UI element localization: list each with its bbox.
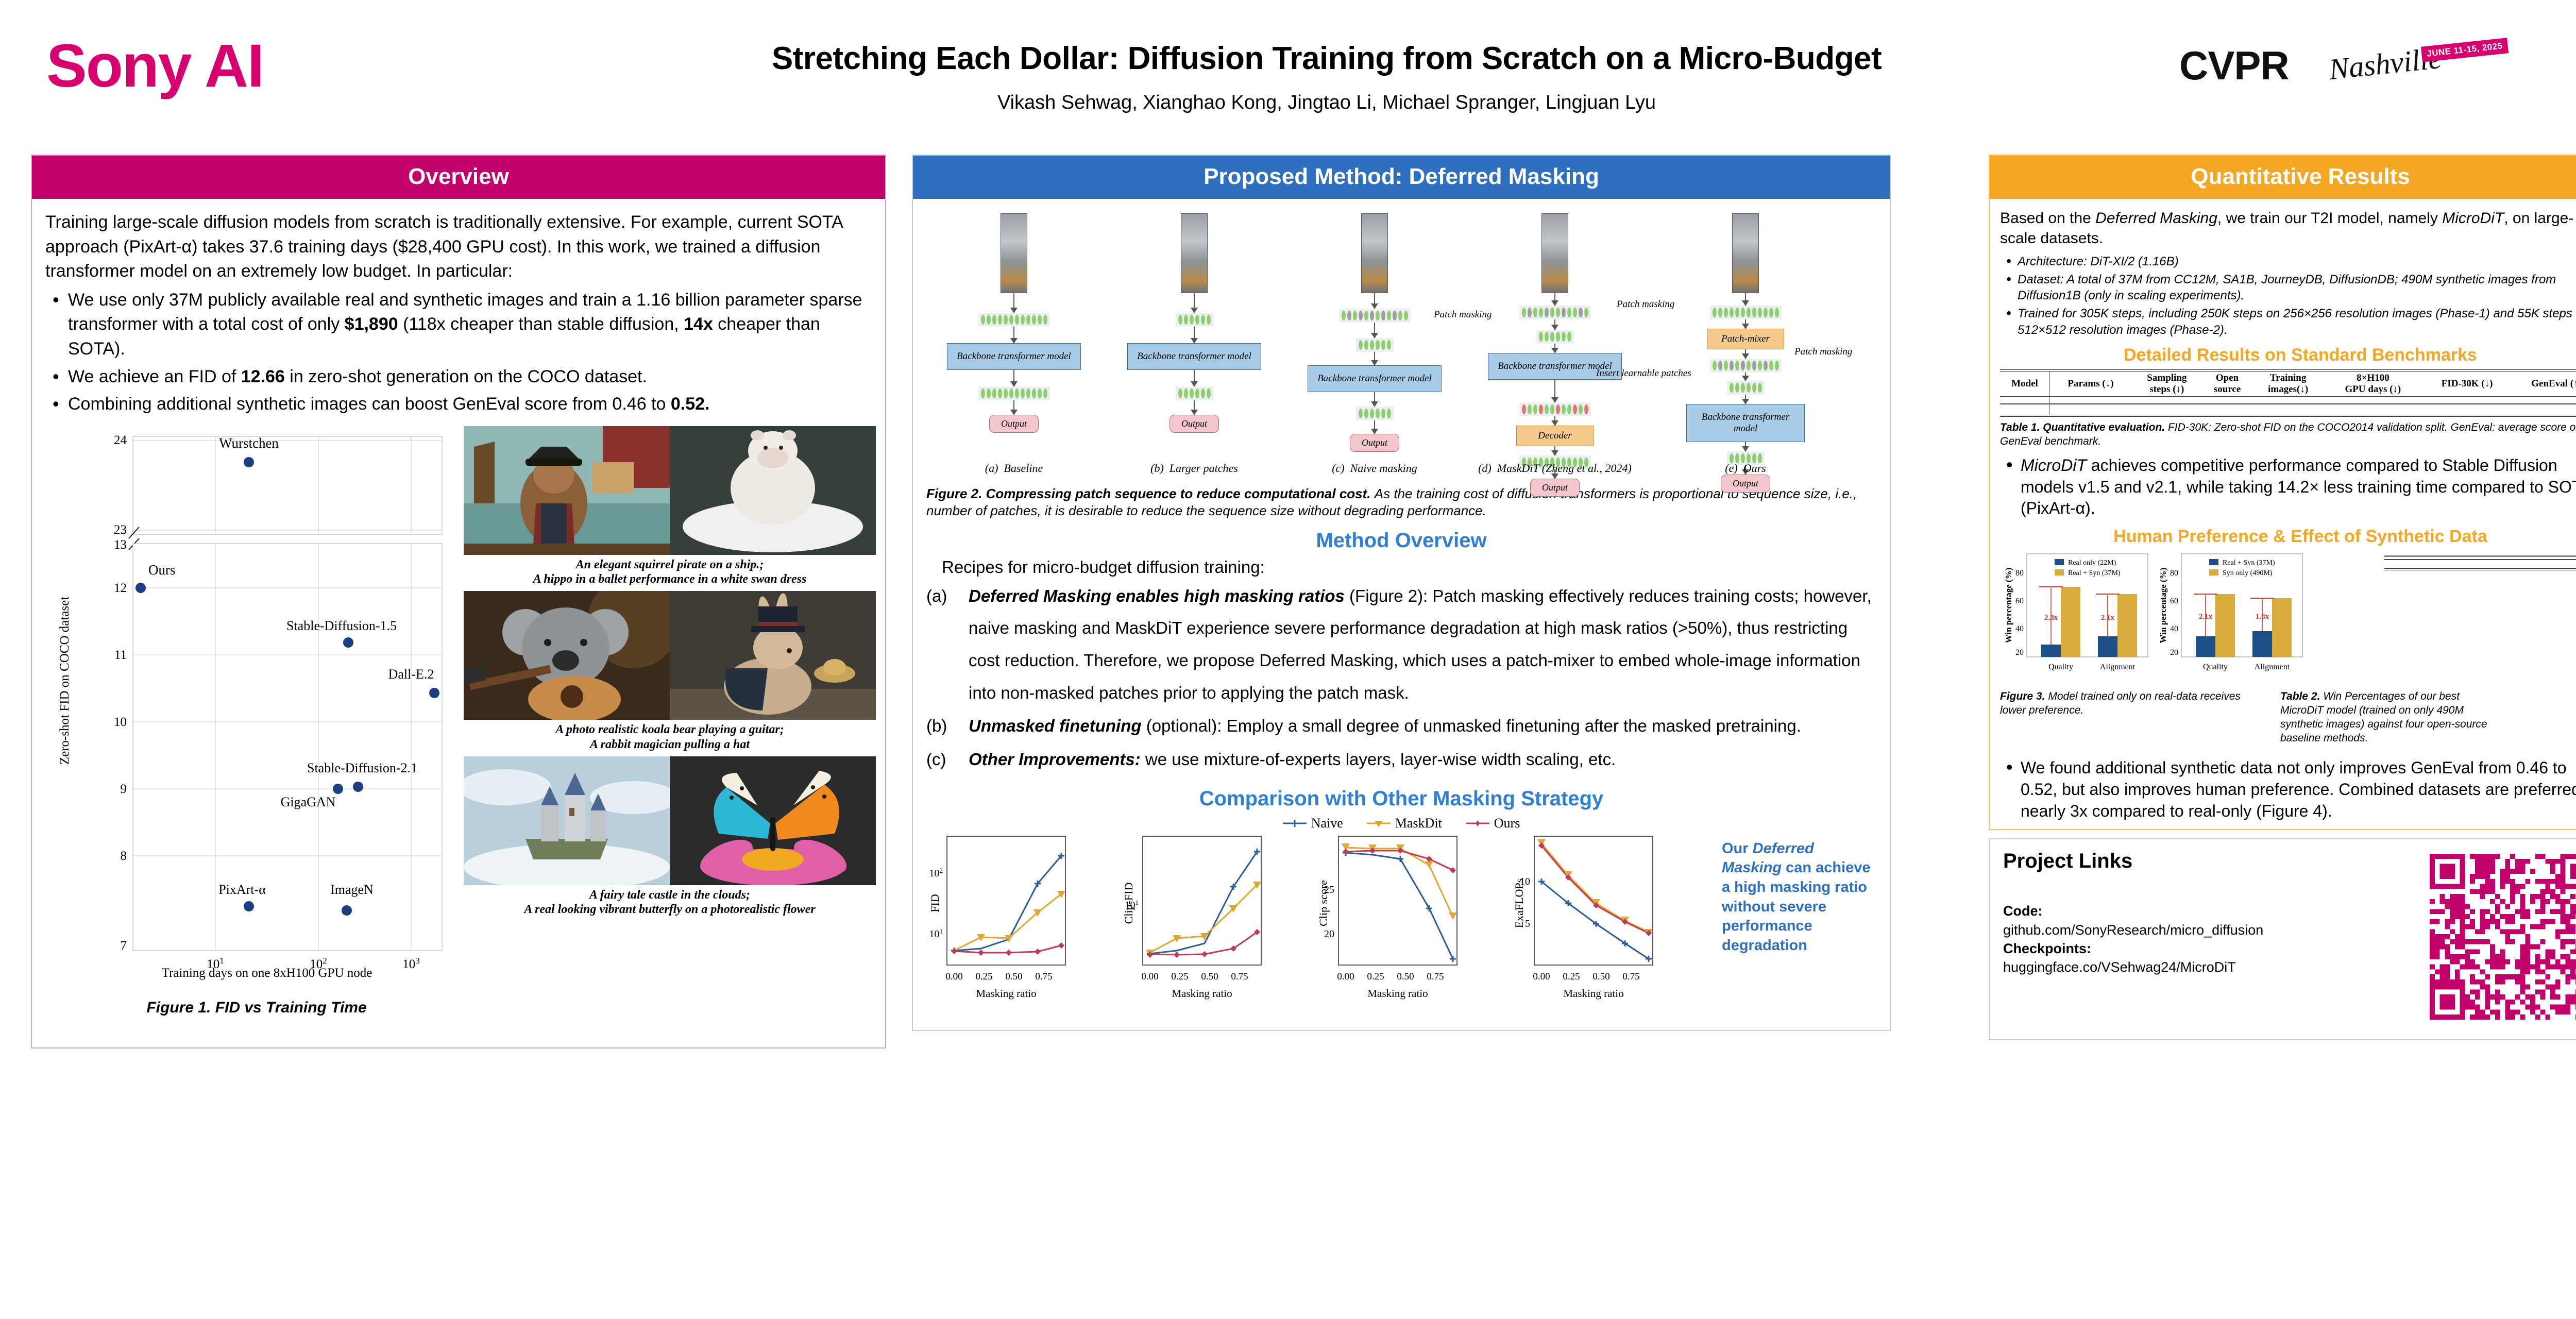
overview-bullet-list: We use only 37M publicly available real … [45, 288, 872, 417]
figure3-bar-charts: Win percentage (%) 80 60 40 20 2.8x [2000, 551, 2361, 680]
token-row [1710, 306, 1782, 319]
cvpr-logo: CVPR Nashville JUNE 11-15, 2025 [2179, 31, 2509, 113]
svg-text:102: 102 [929, 867, 943, 879]
col-fid30k: FID-30K (↓) [2422, 370, 2512, 397]
col-alignment [2549, 556, 2576, 560]
cell-quality [2497, 566, 2549, 569]
cvpr-wordmark: CVPR [2179, 42, 2289, 89]
svg-text:2.8x: 2.8x [2044, 614, 2058, 622]
backbone-box: Backbone transformer model [1308, 365, 1442, 392]
sample-row: An elegant squirrel pirate on a ship.;A … [464, 426, 876, 591]
sample-row: A photo realistic koala bear playing a g… [464, 591, 876, 756]
finding-2: We found additional synthetic data not o… [2000, 757, 2576, 822]
svg-text:PixArt-α: PixArt-α [218, 882, 266, 897]
qr-code-icon[interactable] [2430, 854, 2576, 1020]
col-quality [2497, 556, 2549, 560]
svg-text:0.00: 0.00 [945, 971, 962, 982]
decoder-box: Decoder [1516, 426, 1594, 446]
svg-text:25: 25 [1324, 884, 1334, 895]
svg-text:80: 80 [2015, 569, 2024, 578]
col-model: Model [2000, 370, 2049, 397]
sample-caption: An elegant squirrel pirate on a ship.;A … [464, 555, 876, 591]
output-node: Output [1170, 415, 1219, 433]
cell-steps [2131, 413, 2202, 416]
svg-text:Wurstchen: Wurstchen [219, 435, 279, 451]
svg-text:20: 20 [2170, 648, 2178, 657]
svg-text:Masking ratio: Masking ratio [1172, 987, 1232, 1000]
svg-text:0.75: 0.75 [1035, 971, 1052, 982]
masking-comparison-charts: Naive MaskDit Ours FID [926, 816, 1876, 1022]
legend-item-naive: Naive [1283, 816, 1343, 831]
svg-text:5: 5 [1525, 918, 1530, 929]
page-title: Stretching Each Dollar: Diffusion Traini… [567, 40, 2087, 77]
svg-text:Win percentage (%): Win percentage (%) [2004, 568, 2013, 644]
overview-panel: Overview Training large-scale diffusion … [31, 155, 886, 1049]
sample-caption: A photo realistic koala bear playing a g… [464, 720, 876, 756]
figure1-caption: Figure 1. FID vs Training Time [61, 999, 452, 1017]
svg-text:GigaGAN: GigaGAN [281, 794, 336, 809]
token-row [1727, 381, 1765, 395]
sample-image-grid: An elegant squirrel pirate on a ship.;A … [464, 426, 876, 922]
ours-marker-icon [1466, 819, 1489, 827]
svg-text:Stable-Diffusion-2.1: Stable-Diffusion-2.1 [307, 760, 417, 775]
method-overview-title: Method Overview [926, 529, 1876, 552]
svg-text:101: 101 [929, 927, 943, 940]
svg-text:0.50: 0.50 [1592, 971, 1609, 982]
svg-text:80: 80 [2170, 569, 2178, 578]
col-sampling-steps: Samplingsteps (↓) [2131, 370, 2202, 397]
sample-image-squirrel-pirate [464, 426, 670, 555]
figure2-pipeline-larger-patches: Backbone transformer model Output (b) La… [1107, 213, 1282, 433]
table1-caption-bold: Table 1. Quantitative evaluation. [2000, 421, 2165, 433]
legend-item-ours: Ours [1466, 816, 1520, 831]
svg-text:0.50: 0.50 [1201, 971, 1218, 982]
patched-image-icon [1732, 213, 1759, 293]
overview-text-block: Training large-scale diffusion models fr… [45, 210, 872, 417]
sample-image-butterfly-flower [670, 756, 876, 885]
cell-model [2384, 566, 2497, 569]
output-node: Output [1530, 479, 1580, 497]
svg-text:0.75: 0.75 [1427, 971, 1444, 982]
list-item: We achieve an FID of 12.66 in zero-shot … [45, 365, 872, 390]
svg-text:Stable-Diffusion-1.5: Stable-Diffusion-1.5 [286, 618, 397, 633]
item-bold: Deferred Masking enables high masking ra… [969, 586, 1345, 605]
svg-text:60: 60 [2170, 597, 2178, 605]
results-intro: Based on the Deferred Masking, we train … [2000, 208, 2576, 248]
svg-text:0.75: 0.75 [1231, 971, 1248, 982]
recipes-intro: Recipes for micro-budget diffusion train… [926, 557, 1876, 577]
figure2-diagram: Backbone transformer model Output (a) Ba… [926, 213, 1876, 481]
token-row [1176, 386, 1213, 400]
figure1-x-axis-label: Training days on one 8xH100 GPU node [81, 966, 452, 980]
patch-masking-label: Patch masking [1794, 346, 1852, 358]
backbone-box: Backbone transformer model [1686, 404, 1805, 442]
naive-marker-icon [1283, 819, 1307, 827]
figure1-scatter-plot: 24 23 Wurstchen 13 12 11 10 9 [50, 426, 457, 998]
svg-text:Real + Syn (37M): Real + Syn (37M) [2223, 559, 2275, 567]
figure1-svg: 24 23 Wurstchen 13 12 11 10 9 [50, 426, 457, 998]
cell-fid [2422, 413, 2512, 416]
svg-text:40: 40 [2015, 624, 2024, 633]
figure1-y-axis-label: Zero-shot FID on COCO dataset [58, 572, 72, 789]
figure2-sublabel-d: (d) MaskDiT (Zheng et al., 2024) [1467, 462, 1642, 475]
output-node: Output [1350, 434, 1399, 452]
item-tag: (a) [926, 580, 969, 709]
svg-text:2.1x: 2.1x [2101, 614, 2115, 622]
svg-text:24: 24 [114, 433, 127, 447]
token-row [978, 386, 1050, 400]
project-links-panel: Project Links Code: github.com/SonyResea… [1989, 838, 2576, 1040]
token-row [1176, 313, 1213, 327]
svg-text:0.50: 0.50 [1005, 971, 1022, 982]
comparison-title: Comparison with Other Masking Strategy [926, 787, 1876, 810]
figure2-caption-bold: Figure 2. Compressing patch sequence to … [926, 486, 1371, 501]
token-row-learnable [1519, 402, 1591, 416]
overview-intro: Training large-scale diffusion models fr… [45, 210, 872, 284]
col-open-source: Opensource [2202, 370, 2252, 397]
svg-text:7: 7 [121, 939, 127, 953]
svg-text:101: 101 [1125, 899, 1139, 911]
svg-text:10: 10 [1520, 876, 1530, 887]
svg-text:FID: FID [928, 894, 941, 912]
list-item: (b) Unmasked finetuning (optional): Empl… [926, 710, 1876, 742]
backbone-box: Backbone transformer model [1127, 343, 1261, 370]
item-tag: (c) [926, 743, 969, 776]
svg-text:12: 12 [114, 581, 127, 595]
svg-text:0.25: 0.25 [1367, 971, 1384, 982]
sample-caption: A fairy tale castle in the clouds;A real… [464, 885, 876, 922]
token-row [1536, 330, 1574, 344]
patch-masking-label: Patch masking [1617, 299, 1674, 310]
chart-legend: Naive MaskDit Ours [926, 816, 1876, 831]
column-method: Proposed Method: Deferred Masking Backbo… [912, 155, 1891, 1031]
svg-text:Alignment: Alignment [2255, 663, 2290, 671]
column-results: Quantitative Results Based on the Deferr… [1989, 155, 2576, 1040]
svg-text:13: 13 [114, 538, 127, 552]
method-item-list: (a) Deferred Masking enables high maskin… [926, 580, 1876, 776]
patched-image-icon [1361, 213, 1388, 293]
list-item: We use only 37M publicly available real … [45, 288, 872, 362]
svg-text:Real only (22M): Real only (22M) [2068, 559, 2116, 567]
item-tag: (b) [926, 710, 969, 742]
detailed-results-title: Detailed Results on Standard Benchmarks [2000, 345, 2576, 365]
table1-quantitative-evaluation: Model Params (↓) Samplingsteps (↓) Opens… [2000, 369, 2576, 417]
list-item: Architecture: DiT-XI/2 (1.16B) [2000, 253, 2576, 270]
svg-text:Ours: Ours [148, 562, 176, 578]
results-panel: Quantitative Results Based on the Deferr… [1989, 155, 2576, 830]
svg-text:0.75: 0.75 [1622, 971, 1639, 982]
svg-text:0.25: 0.25 [1563, 971, 1580, 982]
author-list: Vikash Sehwag, Xianghao Kong, Jingtao Li… [567, 92, 2087, 114]
figure2-sublabel-a: (a) Baseline [926, 462, 1101, 475]
qr-code-svg [2430, 854, 2576, 1020]
col-training-images: Trainingimages(↓) [2252, 370, 2324, 397]
svg-text:40: 40 [2170, 624, 2178, 633]
svg-text:0.00: 0.00 [1337, 971, 1354, 982]
figure1-container: 24 23 Wurstchen 13 12 11 10 9 [45, 426, 872, 1039]
list-item: Dataset: A total of 37M from CC12M, SA1B… [2000, 272, 2576, 304]
list-item: Combining additional synthetic images ca… [45, 392, 872, 417]
patched-image-icon [1001, 213, 1027, 293]
figure2-pipeline-naive-masking: Backbone transformer model Output Patch … [1287, 213, 1462, 452]
token-row [1356, 338, 1394, 352]
sample-image-castle-clouds [464, 756, 670, 885]
cell-alignment [2549, 566, 2576, 569]
svg-text:8: 8 [121, 849, 127, 863]
table-header-row [2384, 556, 2576, 560]
col-gpu-days: 8×H100GPU days (↓) [2324, 370, 2422, 397]
svg-text:0.00: 0.00 [1533, 971, 1550, 982]
patched-image-icon [1541, 213, 1568, 293]
svg-text:Real + Syn (37M): Real + Syn (37M) [2068, 569, 2121, 577]
token-row-masked [1710, 359, 1782, 373]
figure2-sublabel-b: (b) Larger patches [1107, 462, 1282, 475]
method-heading: Proposed Method: Deferred Masking [913, 156, 1890, 199]
svg-text:20: 20 [2015, 648, 2024, 657]
human-preference-title: Human Preference & Effect of Synthetic D… [2000, 527, 2576, 547]
overview-heading: Overview [32, 156, 885, 199]
cell-images [2252, 413, 2324, 416]
svg-text:ImageN: ImageN [330, 882, 374, 897]
list-item: (a) Deferred Masking enables high maskin… [926, 580, 1876, 709]
finding-1: MicroDiT achieves competitive performanc… [2000, 455, 2576, 519]
table-row [2384, 566, 2576, 569]
svg-text:Quality: Quality [2048, 663, 2073, 671]
legend-item-maskdit: MaskDit [1367, 816, 1442, 831]
cell-gpudays [2324, 413, 2422, 416]
masking-note: Our Deferred Masking can achieve a high … [1722, 839, 1876, 956]
col-model [2384, 556, 2497, 560]
token-row [978, 313, 1050, 327]
masking-charts-svg: FID 102 101 [926, 833, 1720, 1003]
svg-text:0.50: 0.50 [1397, 971, 1414, 982]
token-row [1356, 407, 1394, 420]
figure2-pipeline-ours: Patch-mixer Backbone transformer model [1668, 213, 1823, 493]
item-bold: Other Improvements: [969, 750, 1141, 769]
svg-text:Dall-E.2: Dall-E.2 [388, 667, 434, 682]
svg-text:0.25: 0.25 [1171, 971, 1188, 982]
cell-params [2049, 413, 2131, 416]
output-node: Output [989, 415, 1039, 433]
svg-text:Quality: Quality [2203, 663, 2228, 671]
svg-text:60: 60 [2015, 597, 2024, 605]
token-row-masked [1339, 309, 1411, 323]
patched-image-icon [1181, 213, 1208, 293]
output-node: Output [1721, 475, 1770, 493]
cell-geneval [2512, 413, 2576, 416]
sample-image-koala-guitar [464, 591, 670, 720]
figure2-sublabel-e: (e) Ours [1668, 462, 1823, 475]
svg-text:Masking ratio: Masking ratio [976, 987, 1036, 1000]
results-heading: Quantitative Results [1990, 156, 2576, 199]
token-row-masked [1519, 306, 1591, 319]
svg-text:9: 9 [121, 782, 127, 796]
sample-row: A fairy tale castle in the clouds;A real… [464, 756, 876, 922]
svg-text:Alignment: Alignment [2100, 663, 2136, 671]
svg-text:23: 23 [114, 523, 127, 537]
item-text: (optional): Employ a small degree of unm… [1142, 716, 1801, 735]
list-item: (c) Other Improvements: we use mixture-o… [926, 743, 1876, 776]
table2-win-percentages [2384, 555, 2576, 570]
legend-label: Naive [1311, 816, 1343, 831]
table1-caption: Table 1. Quantitative evaluation. FID-30… [2000, 421, 2576, 449]
backbone-box: Backbone transformer model [947, 343, 1081, 370]
svg-text:11: 11 [114, 648, 127, 662]
figure2-sublabel-c: (c) Naive masking [1287, 462, 1462, 475]
method-panel: Proposed Method: Deferred Masking Backbo… [912, 155, 1891, 1031]
svg-text:1.8x: 1.8x [2256, 613, 2269, 621]
sample-image-hippo-ballet [670, 426, 876, 555]
list-item: Trained for 305K steps, including 250K s… [2000, 306, 2576, 338]
svg-text:Syn only (490M): Syn only (490M) [2223, 569, 2273, 577]
svg-text:Masking ratio: Masking ratio [1563, 987, 1623, 1000]
patch-mixer-box: Patch-mixer [1707, 329, 1784, 349]
figure3-and-table2: Win percentage (%) 80 60 40 20 2.8x [2000, 551, 2576, 700]
table-row-highlight [2000, 413, 2576, 416]
legend-label: MaskDit [1395, 816, 1442, 831]
svg-text:0.00: 0.00 [1141, 971, 1158, 982]
svg-text:2.1x: 2.1x [2199, 613, 2213, 621]
table-header-row: Model Params (↓) Samplingsteps (↓) Opens… [2000, 370, 2576, 397]
results-bullet-list: Architecture: DiT-XI/2 (1.16B) Dataset: … [2000, 253, 2576, 338]
item-text: we use mixture-of-experts layers, layer-… [1141, 750, 1616, 769]
column-overview: Overview Training large-scale diffusion … [31, 155, 886, 1049]
col-params: Params (↓) [2049, 370, 2131, 397]
poster-header: Sony AI Stretching Each Dollar: Diffusio… [0, 0, 2576, 155]
svg-text:10: 10 [114, 715, 127, 729]
svg-text:Masking ratio: Masking ratio [1367, 987, 1428, 1000]
item-bold: Unmasked finetuning [969, 716, 1142, 735]
svg-text:0.25: 0.25 [975, 971, 992, 982]
sony-ai-logo: Sony AI [46, 31, 263, 101]
legend-label: Ours [1494, 816, 1520, 831]
figure2-pipeline-baseline: Backbone transformer model Output (a) Ba… [926, 213, 1101, 433]
cell-open [2202, 413, 2252, 416]
figure2-pipeline-maskdit: Backbone transformer model Decoder Outpu… [1467, 213, 1642, 497]
col-geneval: GenEval (↑) [2512, 370, 2576, 397]
svg-text:Win percentage (%): Win percentage (%) [2158, 568, 2168, 644]
sample-image-rabbit-magician [670, 591, 876, 720]
svg-text:20: 20 [1324, 928, 1334, 940]
maskdit-marker-icon [1367, 819, 1391, 827]
